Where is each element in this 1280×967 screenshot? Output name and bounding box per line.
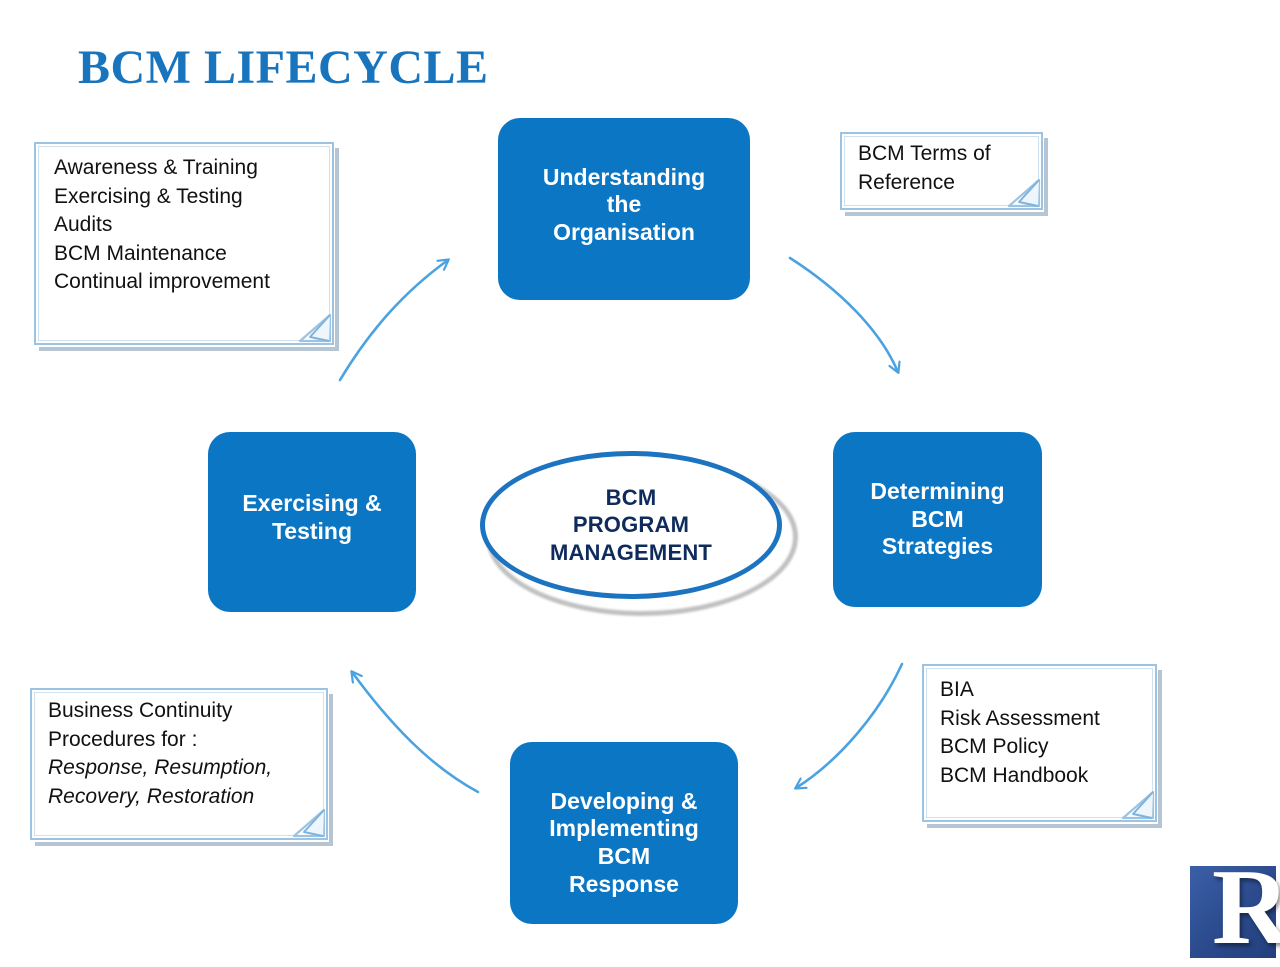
note-line: Continual improvement bbox=[54, 268, 324, 297]
center-ellipse-label: BCM PROGRAM MANAGEMENT bbox=[550, 484, 712, 567]
arrow-bottom-right bbox=[796, 664, 902, 788]
note-maintenance-note[interactable]: Awareness & TrainingExercising & Testing… bbox=[34, 142, 334, 345]
note-line: BCM Maintenance bbox=[54, 240, 324, 269]
note-line: BCM Terms of bbox=[858, 140, 1033, 169]
folded-corner-icon bbox=[298, 313, 332, 343]
note-line: Procedures for : bbox=[48, 726, 318, 755]
brand-logo: R bbox=[1190, 866, 1276, 958]
ellipse-shape: BCM PROGRAM MANAGEMENT bbox=[480, 451, 782, 599]
folded-corner-icon bbox=[292, 808, 326, 838]
note-text: Awareness & TrainingExercising & Testing… bbox=[54, 154, 324, 297]
note-text: BCM Terms ofReference bbox=[858, 140, 1033, 197]
process-box-exercising-testing[interactable]: Exercising & Testing bbox=[208, 432, 416, 612]
logo-letter: R bbox=[1212, 854, 1280, 962]
note-line: Reference bbox=[858, 169, 1033, 198]
note-line: Audits bbox=[54, 211, 324, 240]
note-line: BCM Handbook bbox=[940, 762, 1147, 791]
process-box-developing-implementing-bcm-response[interactable]: Developing & Implementing BCM Response bbox=[510, 742, 738, 924]
note-line: Exercising & Testing bbox=[54, 183, 324, 212]
note-line: BIA bbox=[940, 676, 1147, 705]
center-ellipse[interactable]: BCM PROGRAM MANAGEMENT bbox=[480, 451, 792, 606]
process-box-label: Understanding the Organisation bbox=[543, 164, 705, 247]
note-line: Risk Assessment bbox=[940, 705, 1147, 734]
note-terms-of-reference-note[interactable]: BCM Terms ofReference bbox=[840, 132, 1043, 210]
arrow-top-left bbox=[340, 260, 448, 380]
note-text: Business ContinuityProcedures for :Respo… bbox=[48, 697, 318, 811]
process-box-label: Developing & Implementing BCM Response bbox=[549, 788, 699, 898]
note-bc-procedures-note[interactable]: Business ContinuityProcedures for :Respo… bbox=[30, 688, 328, 840]
note-line: BCM Policy bbox=[940, 733, 1147, 762]
note-line: Recovery, Restoration bbox=[48, 783, 318, 812]
process-box-label: Determining BCM Strategies bbox=[870, 478, 1004, 561]
process-box-label: Exercising & Testing bbox=[242, 490, 381, 545]
note-line: Response, Resumption, bbox=[48, 754, 318, 783]
process-box-determining-bcm-strategies[interactable]: Determining BCM Strategies bbox=[833, 432, 1042, 607]
slide-canvas: BCM LIFECYCLE Understanding the Organisa… bbox=[0, 0, 1280, 960]
page-title: BCM LIFECYCLE bbox=[78, 44, 489, 92]
note-text: BIARisk AssessmentBCM PolicyBCM Handbook bbox=[940, 676, 1147, 790]
folded-corner-icon bbox=[1121, 790, 1155, 820]
arrow-bottom-left bbox=[352, 672, 478, 792]
process-box-understanding-the-organisation[interactable]: Understanding the Organisation bbox=[498, 118, 750, 300]
note-line: Awareness & Training bbox=[54, 154, 324, 183]
note-line: Business Continuity bbox=[48, 697, 318, 726]
arrow-top-right bbox=[790, 258, 898, 372]
note-bia-policy-note[interactable]: BIARisk AssessmentBCM PolicyBCM Handbook bbox=[922, 664, 1157, 822]
